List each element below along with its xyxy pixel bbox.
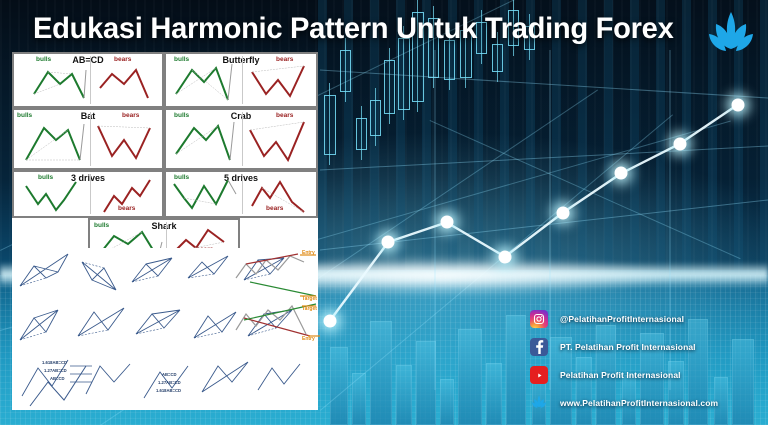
pattern-cell-abcd[interactable]: AB=CD bulls bears bbox=[12, 52, 164, 108]
lotus-logo-icon bbox=[530, 394, 548, 412]
contact-row-website[interactable]: www.PelatihanProfitInternasional.com bbox=[530, 389, 768, 417]
entry-label-bottom: Entry bbox=[302, 336, 315, 342]
instagram-icon[interactable] bbox=[530, 310, 548, 328]
contact-row-youtube[interactable]: Pelatihan Profit Internasional bbox=[530, 361, 768, 389]
pattern-sketch bbox=[166, 110, 320, 172]
pattern-sketch bbox=[14, 54, 166, 110]
pattern-sketch bbox=[166, 172, 320, 220]
contact-row-instagram[interactable]: @PelatihanProfitInternasional bbox=[530, 305, 768, 333]
trend-marker-dot bbox=[440, 216, 453, 229]
formula-label-127: 1.27AB=CD bbox=[44, 368, 67, 373]
pattern-sketch-collection bbox=[12, 248, 318, 410]
formula-label-1618-2: 1.618AB=CD bbox=[156, 388, 181, 393]
entry-target-chart bbox=[230, 248, 330, 358]
pattern-sketch bbox=[166, 54, 320, 110]
formula-label-abcd-2: AB=CD bbox=[162, 372, 177, 377]
pattern-cell-5drives[interactable]: 5 drives bulls bears bbox=[164, 170, 318, 218]
target-label-bottom: Target bbox=[302, 306, 317, 312]
pattern-cell-3drives[interactable]: 3 drives bulls bears bbox=[12, 170, 164, 218]
contact-label: @PelatihanProfitInternasional bbox=[560, 314, 684, 324]
entry-label-top: Entry bbox=[302, 250, 315, 256]
trend-marker-dot bbox=[382, 236, 395, 249]
contact-label: www.PelatihanProfitInternasional.com bbox=[560, 398, 718, 408]
poster-canvas: Edukasi Harmonic Pattern Untuk Trading F… bbox=[0, 0, 768, 425]
trend-marker-dot bbox=[557, 206, 570, 219]
facebook-icon[interactable] bbox=[530, 338, 548, 356]
contact-list: @PelatihanProfitInternasional PT. Pelati… bbox=[530, 305, 768, 417]
harmonic-patterns-panel: AB=CD bulls bears Butterfly bulls bears bbox=[12, 52, 318, 410]
pattern-cell-butterfly[interactable]: Butterfly bulls bears bbox=[164, 52, 318, 108]
formula-label-1618: 1.618AB=CD bbox=[42, 360, 67, 365]
contact-label: PT. Pelatihan Profit Internasional bbox=[560, 342, 696, 352]
contact-label: Pelatihan Profit Internasional bbox=[560, 370, 681, 380]
trend-marker-dot bbox=[615, 167, 628, 180]
trend-marker-dot bbox=[732, 98, 745, 111]
abcd-formula-diagram bbox=[26, 360, 136, 410]
pattern-sketch bbox=[14, 172, 166, 220]
pattern-grid: AB=CD bulls bears Butterfly bulls bears bbox=[12, 52, 318, 247]
formula-label-127-2: 1.27AB=CD bbox=[158, 380, 181, 385]
page-title: Edukasi Harmonic Pattern Untuk Trading F… bbox=[33, 12, 673, 46]
trend-marker-dot bbox=[498, 250, 511, 263]
contact-row-facebook[interactable]: PT. Pelatihan Profit Internasional bbox=[530, 333, 768, 361]
formula-label-abcd: AB=CD bbox=[50, 376, 65, 381]
pattern-cell-bat[interactable]: Bat bulls bears bbox=[12, 108, 164, 170]
trend-marker-dot bbox=[673, 137, 686, 150]
pattern-sketch bbox=[14, 110, 166, 172]
youtube-icon[interactable] bbox=[530, 366, 548, 384]
target-label-top: Target bbox=[302, 296, 317, 302]
pattern-cell-crab[interactable]: Crab bulls bears bbox=[164, 108, 318, 170]
